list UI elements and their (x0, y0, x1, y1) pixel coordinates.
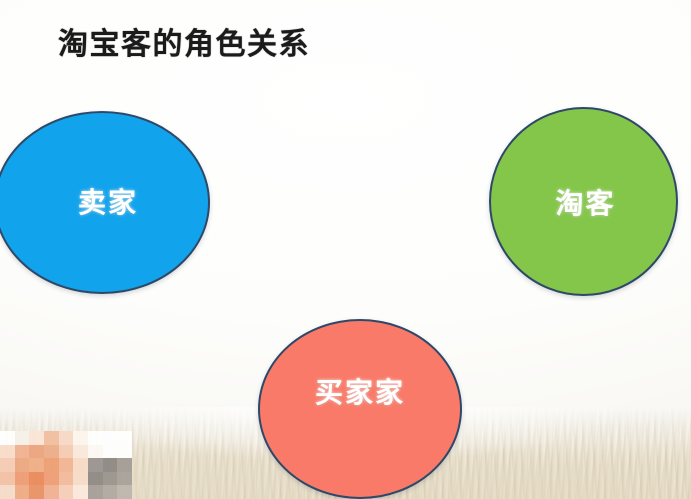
mosaic-tile (29, 431, 44, 445)
mosaic-tile (0, 472, 15, 486)
mosaic-tile (117, 485, 132, 499)
diagram-node-promoter[interactable]: 淘客 (489, 107, 678, 296)
mosaic-tile (15, 431, 30, 445)
mosaic-tile (59, 485, 74, 499)
diagram-node-seller[interactable]: 卖家 (0, 111, 210, 294)
mosaic-tile (73, 445, 88, 459)
diagram-node-seller-label: 卖家 (78, 181, 138, 221)
mosaic-tile (0, 431, 15, 445)
mosaic-tile (0, 485, 15, 499)
mosaic-tile (117, 472, 132, 486)
mosaic-tile (44, 485, 59, 499)
mosaic-tile (103, 472, 118, 486)
mosaic-tile (29, 472, 44, 486)
diagram-node-promoter-label: 淘客 (555, 182, 615, 222)
mosaic-tile (117, 445, 132, 459)
mosaic-tile (88, 431, 103, 445)
mosaic-tile (88, 485, 103, 499)
mosaic-tile (59, 458, 74, 472)
mosaic-tile (29, 485, 44, 499)
pixelated-mosaic-watermark (0, 431, 132, 499)
mosaic-tile (44, 472, 59, 486)
mosaic-tile (73, 485, 88, 499)
diagram-node-buyer[interactable]: 买家家 (258, 319, 462, 499)
mosaic-tile (44, 445, 59, 459)
mosaic-tile (73, 458, 88, 472)
mosaic-tile (117, 458, 132, 472)
mosaic-tile (15, 485, 30, 499)
mosaic-tile (15, 458, 30, 472)
mosaic-tile (0, 445, 15, 459)
mosaic-tile (73, 431, 88, 445)
mosaic-tile (29, 458, 44, 472)
mosaic-tile (44, 431, 59, 445)
diagram-node-buyer-label: 买家家 (315, 371, 405, 411)
slide-canvas: 淘宝客的角色关系 卖家 淘客 买家家 (0, 0, 691, 499)
mosaic-tile (59, 472, 74, 486)
mosaic-tile (44, 458, 59, 472)
mosaic-tile (88, 458, 103, 472)
mosaic-tile (15, 472, 30, 486)
mosaic-tile (15, 445, 30, 459)
mosaic-tile (73, 472, 88, 486)
page-title: 淘宝客的角色关系 (58, 27, 310, 63)
mosaic-tile (103, 445, 118, 459)
mosaic-tile (29, 445, 44, 459)
mosaic-tile (88, 472, 103, 486)
mosaic-tile (59, 445, 74, 459)
mosaic-tile (103, 458, 118, 472)
mosaic-tile (103, 431, 118, 445)
mosaic-tile (117, 431, 132, 445)
mosaic-tile (103, 485, 118, 499)
mosaic-tile (59, 431, 74, 445)
mosaic-tile (88, 445, 103, 459)
mosaic-tile (0, 458, 15, 472)
